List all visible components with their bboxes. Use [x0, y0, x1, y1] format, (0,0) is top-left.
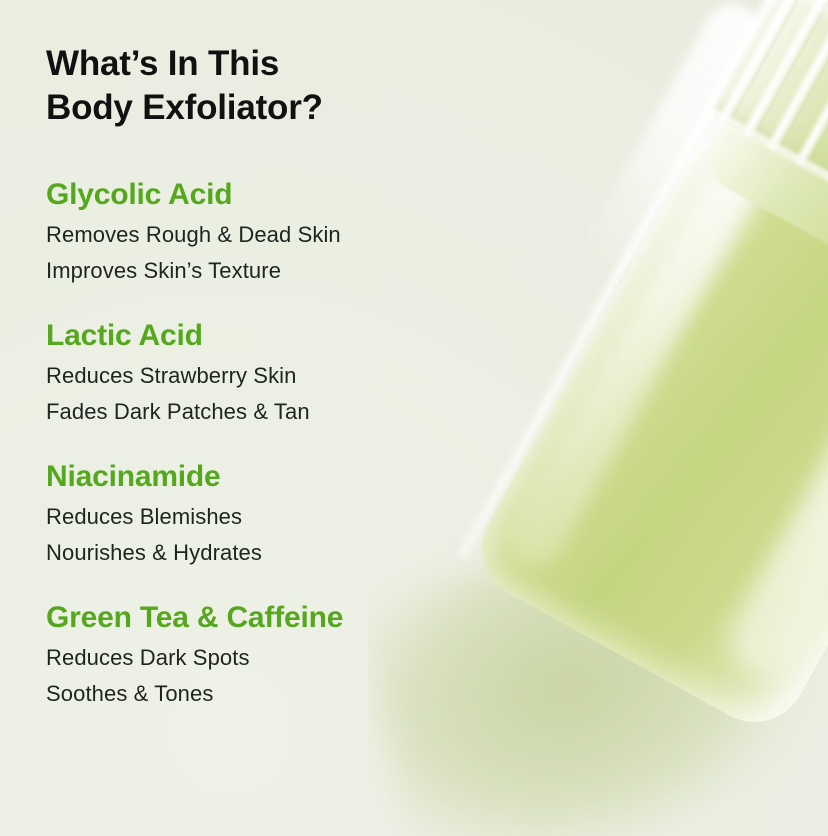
page-title-line-2: Body Exfoliator?	[46, 88, 323, 127]
page-title: What’s In This Body Exfoliator?	[46, 42, 446, 130]
ingredient-list: Glycolic Acid Removes Rough & Dead Skin …	[46, 178, 466, 708]
ingredient-block-niacinamide: Niacinamide Reduces Blemishes Nourishes …	[46, 460, 466, 567]
ingredient-name: Lactic Acid	[46, 319, 466, 353]
ingredient-name: Niacinamide	[46, 460, 466, 494]
ingredient-block-glycolic-acid: Glycolic Acid Removes Rough & Dead Skin …	[46, 178, 466, 285]
ingredient-name: Green Tea & Caffeine	[46, 601, 466, 635]
ingredient-benefit: Removes Rough & Dead Skin	[46, 221, 466, 249]
ingredient-name: Glycolic Acid	[46, 178, 466, 212]
ingredient-benefit: Soothes & Tones	[46, 680, 466, 708]
page-title-line-1: What’s In This	[46, 44, 279, 83]
ingredient-benefit: Reduces Strawberry Skin	[46, 362, 466, 390]
ingredient-benefit: Fades Dark Patches & Tan	[46, 398, 466, 426]
ingredient-benefit: Reduces Blemishes	[46, 503, 466, 531]
ingredient-block-lactic-acid: Lactic Acid Reduces Strawberry Skin Fade…	[46, 319, 466, 426]
ingredient-benefit: Reduces Dark Spots	[46, 644, 466, 672]
product-ingredient-infographic: What’s In This Body Exfoliator? Glycolic…	[0, 0, 828, 836]
ingredient-benefit: Improves Skin’s Texture	[46, 257, 466, 285]
ingredient-benefit: Nourishes & Hydrates	[46, 539, 466, 567]
text-column: What’s In This Body Exfoliator? Glycolic…	[0, 0, 470, 836]
ingredient-block-green-tea-caffeine: Green Tea & Caffeine Reduces Dark Spots …	[46, 601, 466, 708]
